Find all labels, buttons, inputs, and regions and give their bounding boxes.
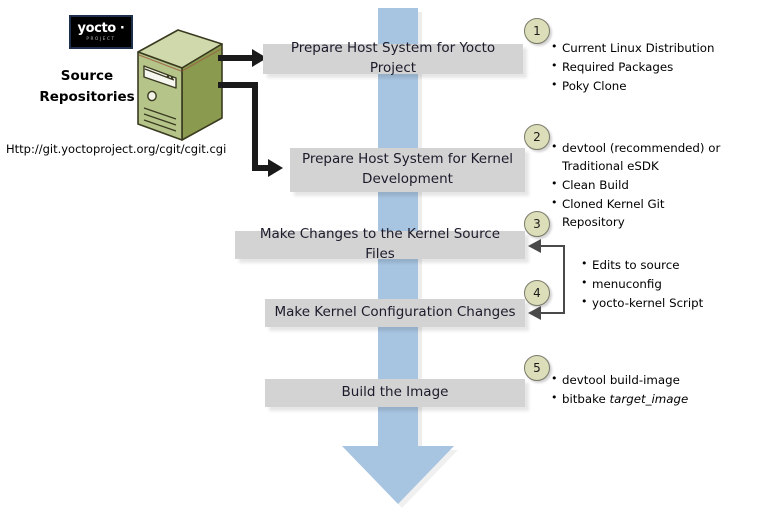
step-4-number-badge: 4 (524, 280, 550, 306)
step-4-number: 4 (533, 286, 541, 300)
list-item: devtool (recommended) or Traditional eSD… (551, 140, 731, 176)
workflow-down-arrow-icon (342, 446, 454, 504)
list-item: devtool build-image (551, 372, 741, 390)
step-1-number: 1 (533, 24, 541, 38)
connector-server-to-step2-arrowhead (268, 159, 283, 177)
list-item: Cloned Kernel Git Repository (551, 196, 731, 232)
step-1-bullet-list: Current Linux Distribution Required Pack… (551, 40, 751, 97)
list-item: bitbake target_image (551, 391, 741, 409)
bracket-arrowhead-to-step3 (528, 239, 541, 253)
bracket-bottom-horizontal-line (540, 312, 565, 314)
step-3-number-badge: 3 (524, 211, 550, 237)
step-5-number: 5 (533, 361, 541, 375)
step-3-box[interactable]: Make Changes to the Kernel Source Files (235, 231, 525, 259)
step-5-bullet-list: devtool build-image bitbake target_image (551, 372, 741, 410)
step-2-box[interactable]: Prepare Host System for Kernel Developme… (290, 148, 525, 192)
step-4-box[interactable]: Make Kernel Configuration Changes (265, 299, 525, 327)
yocto-project-logo: yocto · PROJECT (69, 15, 133, 49)
step-2-number: 2 (533, 130, 541, 144)
step-5-box-label: Build the Image (342, 383, 449, 403)
bracket-vertical-line (563, 245, 565, 314)
source-repository-url: Http://git.yoctoproject.org/cgit/cgit.cg… (6, 142, 226, 156)
step-5-bullet-2-italic: target_image (610, 392, 689, 406)
yocto-logo-subtitle: PROJECT (86, 37, 115, 41)
yocto-logo-word: yocto · (78, 22, 125, 35)
step-5-bullet-2-text: bitbake (562, 392, 610, 406)
source-repositories-label: Source Repositories (32, 66, 142, 108)
step-2-number-badge: 2 (524, 124, 550, 150)
source-label-line2: Repositories (32, 87, 142, 108)
step-4-box-label: Make Kernel Configuration Changes (274, 303, 515, 323)
step-5-number-badge: 5 (524, 355, 550, 381)
connector-server-to-step2-vertical (252, 82, 258, 171)
list-item: menuconfig (581, 276, 751, 294)
diagram-canvas: yocto · PROJECT Source Repositories Http… (0, 0, 769, 517)
step-1-box-label: Prepare Host System for Yocto Project (271, 39, 515, 78)
source-label-line1: Source (32, 66, 142, 87)
steps-3-4-shared-bullet-list: Edits to source menuconfig yocto-kernel … (581, 257, 751, 314)
server-tower-icon (134, 26, 226, 142)
list-item: Edits to source (581, 257, 751, 275)
step-2-box-label: Prepare Host System for Kernel Developme… (298, 150, 517, 189)
list-item: Clean Build (551, 177, 731, 195)
step-1-box[interactable]: Prepare Host System for Yocto Project (263, 44, 523, 74)
step-1-number-badge: 1 (524, 18, 550, 44)
step-5-bullet-1-text: devtool build-image (562, 373, 680, 387)
step-3-box-label: Make Changes to the Kernel Source Files (243, 225, 517, 264)
list-item: Required Packages (551, 59, 751, 77)
step-3-number: 3 (533, 217, 541, 231)
list-item: Current Linux Distribution (551, 40, 751, 58)
bracket-arrowhead-to-step4 (528, 306, 541, 320)
bracket-top-horizontal-line (540, 245, 565, 247)
step-5-box[interactable]: Build the Image (265, 379, 525, 407)
step-2-bullet-list: devtool (recommended) or Traditional eSD… (551, 140, 731, 233)
list-item: Poky Clone (551, 78, 751, 96)
list-item: yocto-kernel Script (581, 295, 751, 313)
